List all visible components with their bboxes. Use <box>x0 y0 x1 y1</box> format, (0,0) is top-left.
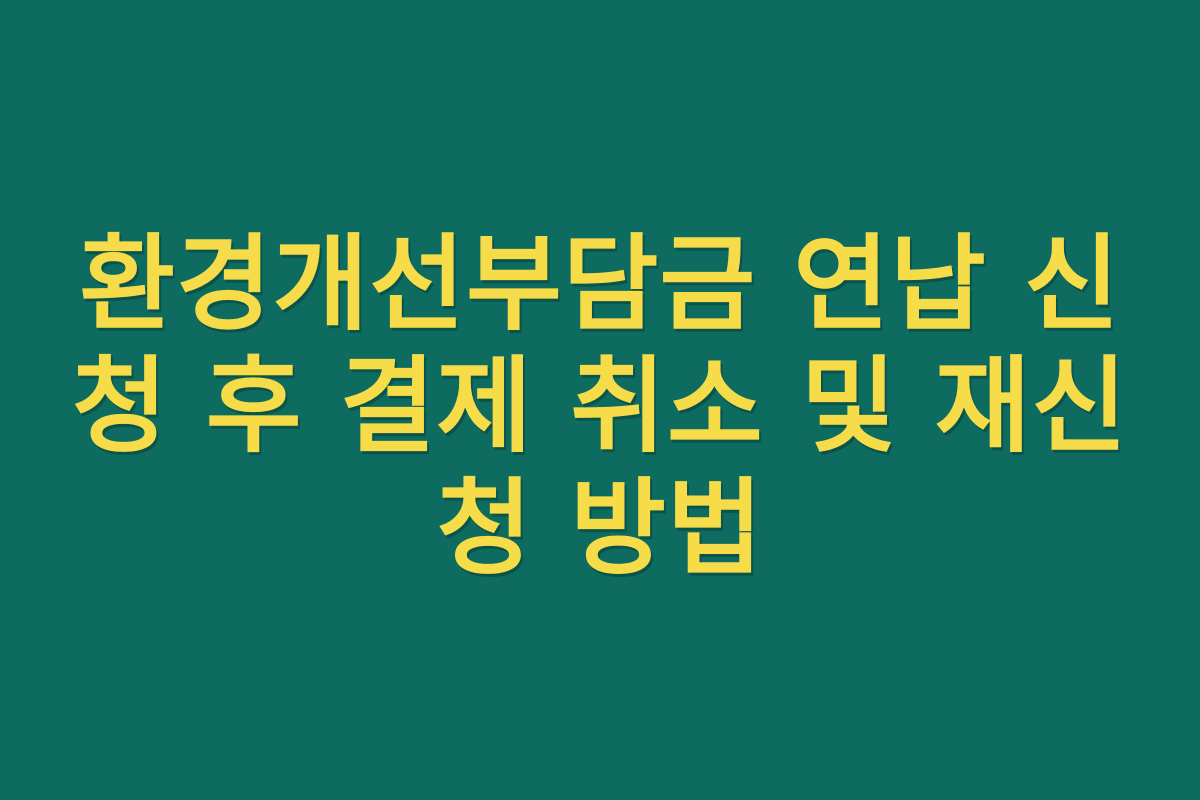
thumbnail-canvas: 환경개선부담금 연납 신 청 후 결제 취소 및 재신 청 방법 <box>0 0 1200 800</box>
headline-line-3: 청 방법 <box>436 467 763 589</box>
headline-line-2: 청 후 결제 취소 및 재신 <box>72 345 1128 467</box>
headline-block: 환경개선부담금 연납 신 청 후 결제 취소 및 재신 청 방법 <box>95 223 1105 589</box>
headline-line-1: 환경개선부담금 연납 신 <box>79 223 1120 345</box>
